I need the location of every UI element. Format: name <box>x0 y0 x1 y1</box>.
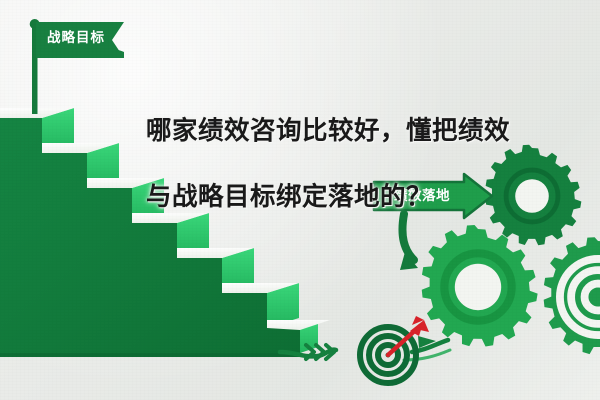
poster-canvas: 战略目标 <box>0 0 600 400</box>
page-title: 哪家绩效咨询比较好，懂把绩效 与战略目标绑定落地的？ <box>146 82 586 247</box>
headline-line-2: 与战略目标绑定落地的？ <box>146 181 586 214</box>
headline-line-1: 哪家绩效咨询比较好，懂把绩效 <box>146 115 586 148</box>
